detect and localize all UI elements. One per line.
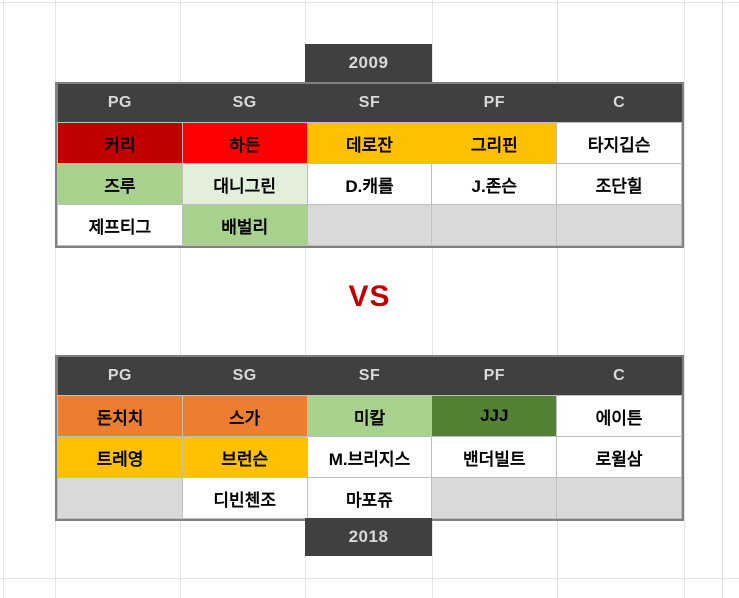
player-cell[interactable]: 스가 — [182, 396, 307, 437]
vs-label: VS — [0, 280, 739, 314]
year-tab-bottom: 2018 — [305, 518, 432, 556]
player-cell[interactable]: 하든 — [182, 123, 307, 164]
column-header-c: C — [557, 84, 682, 123]
player-cell[interactable]: 브런슨 — [182, 437, 307, 478]
table-row: 제프티그배벌리 — [58, 205, 682, 246]
table-row: 돈치치스가미칼JJJ에이튼 — [58, 396, 682, 437]
roster-table-bottom: PG SG SF PF C 돈치치스가미칼JJJ에이튼트레영브런슨M.브리지스밴… — [55, 355, 684, 521]
column-header-sf: SF — [307, 357, 432, 396]
header-row-top: PG SG SF PF C — [58, 84, 682, 123]
player-cell[interactable]: 디빈첸조 — [182, 478, 307, 519]
roster-table-top: PG SG SF PF C 커리하든데로잔그리핀타지깁슨즈루대니그린D.캐롤J.… — [55, 82, 684, 248]
table-row: 즈루대니그린D.캐롤J.존슨조단힐 — [58, 164, 682, 205]
empty-cell — [58, 478, 183, 519]
column-header-pf: PF — [432, 357, 557, 396]
header-row-bottom: PG SG SF PF C — [58, 357, 682, 396]
player-cell[interactable]: JJJ — [432, 396, 557, 437]
table-row: 커리하든데로잔그리핀타지깁슨 — [58, 123, 682, 164]
column-header-sg: SG — [182, 84, 307, 123]
player-cell[interactable]: M.브리지스 — [307, 437, 432, 478]
column-header-pg: PG — [58, 84, 183, 123]
column-header-pf: PF — [432, 84, 557, 123]
player-cell[interactable]: 돈치치 — [58, 396, 183, 437]
player-cell[interactable]: 대니그린 — [182, 164, 307, 205]
player-cell[interactable]: J.존슨 — [432, 164, 557, 205]
player-cell[interactable]: 배벌리 — [182, 205, 307, 246]
player-cell[interactable]: 즈루 — [58, 164, 183, 205]
player-cell[interactable]: 커리 — [58, 123, 183, 164]
table-row: 트레영브런슨M.브리지스밴더빌트로윌삼 — [58, 437, 682, 478]
empty-cell — [432, 205, 557, 246]
player-cell[interactable]: 로윌삼 — [557, 437, 682, 478]
player-cell[interactable]: 밴더빌트 — [432, 437, 557, 478]
player-cell[interactable]: 에이튼 — [557, 396, 682, 437]
column-header-c: C — [557, 357, 682, 396]
player-cell[interactable]: 제프티그 — [58, 205, 183, 246]
empty-cell — [557, 478, 682, 519]
column-header-sf: SF — [307, 84, 432, 123]
year-tab-top: 2009 — [305, 44, 432, 82]
column-header-sg: SG — [182, 357, 307, 396]
player-cell[interactable]: 그리핀 — [432, 123, 557, 164]
player-cell[interactable]: D.캐롤 — [307, 164, 432, 205]
player-cell[interactable]: 타지깁슨 — [557, 123, 682, 164]
empty-cell — [432, 478, 557, 519]
table-row: 디빈첸조마포쥬 — [58, 478, 682, 519]
player-cell[interactable]: 조단힐 — [557, 164, 682, 205]
empty-cell — [307, 205, 432, 246]
player-cell[interactable]: 데로잔 — [307, 123, 432, 164]
empty-cell — [557, 205, 682, 246]
column-header-pg: PG — [58, 357, 183, 396]
player-cell[interactable]: 마포쥬 — [307, 478, 432, 519]
player-cell[interactable]: 미칼 — [307, 396, 432, 437]
player-cell[interactable]: 트레영 — [58, 437, 183, 478]
